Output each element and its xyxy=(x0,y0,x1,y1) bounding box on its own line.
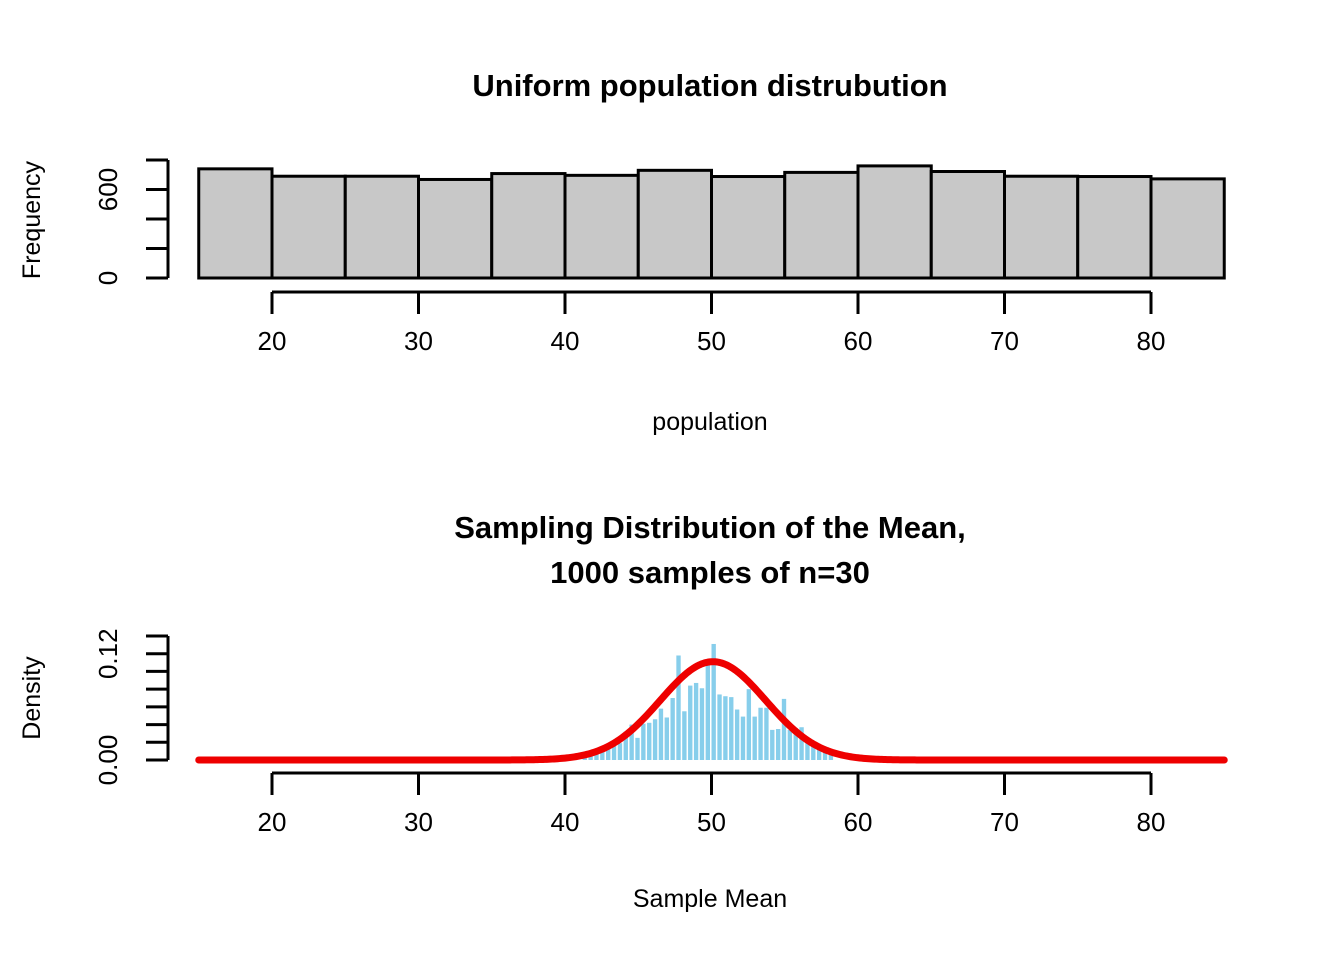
x-tick-label: 20 xyxy=(258,807,287,837)
x-tick-label: 30 xyxy=(404,326,433,356)
x-tick-label: 60 xyxy=(844,807,873,837)
histogram-bar xyxy=(931,172,1004,278)
histogram-bars-top xyxy=(199,166,1225,278)
histogram-bar xyxy=(635,738,639,760)
x-tick-label: 80 xyxy=(1137,807,1166,837)
histogram-bar xyxy=(688,686,692,760)
histogram-bar xyxy=(1005,176,1078,278)
y-tick-label: 0.00 xyxy=(93,735,123,786)
histogram-bar xyxy=(785,172,858,278)
y-tick-label: 600 xyxy=(93,168,123,211)
x-tick-label: 50 xyxy=(697,326,726,356)
x-axis-top: 20304050607080 xyxy=(258,292,1166,356)
histogram-bar xyxy=(1078,177,1151,278)
histogram-bar xyxy=(641,724,645,760)
y-axis-title-bottom: Density xyxy=(18,656,46,740)
x-tick-label: 50 xyxy=(697,807,726,837)
histogram-bar xyxy=(647,723,651,760)
chart-title-bottom-line2: 1000 samples of n=30 xyxy=(550,555,870,590)
histogram-bar xyxy=(764,708,768,760)
histogram-bar xyxy=(653,719,657,760)
histogram-bar xyxy=(638,170,711,278)
y-axis-top: 0600 xyxy=(93,160,168,285)
histogram-bar xyxy=(345,176,418,278)
uniform-population-chart: Uniform population distrubution populati… xyxy=(0,0,1344,470)
histogram-bar xyxy=(700,688,704,760)
x-tick-label: 70 xyxy=(990,326,1019,356)
x-tick-label: 60 xyxy=(844,326,873,356)
x-tick-label: 40 xyxy=(551,807,580,837)
histogram-bar xyxy=(694,683,698,760)
histogram-bar xyxy=(735,710,739,760)
histogram-bar xyxy=(670,698,674,760)
y-tick-label: 0.12 xyxy=(93,628,123,679)
histogram-bar xyxy=(706,662,710,760)
x-axis-title-bottom: Sample Mean xyxy=(633,885,787,913)
histogram-bar xyxy=(776,729,780,760)
histogram-bar xyxy=(723,696,727,760)
histogram-bar xyxy=(199,169,272,278)
histogram-bar xyxy=(788,730,792,760)
x-axis-bottom: 20304050607080 xyxy=(258,773,1166,837)
x-axis-title-top: population xyxy=(652,408,767,436)
histogram-bar xyxy=(729,697,733,760)
histogram-bar xyxy=(492,174,565,278)
chart-title-top: Uniform population distrubution xyxy=(472,68,947,103)
histogram-bar xyxy=(782,699,786,760)
histogram-bar xyxy=(272,176,345,278)
histogram-bar xyxy=(717,694,721,760)
uniform-population-panel: Uniform population distrubution populati… xyxy=(0,0,1344,470)
y-axis-title-top: Frequency xyxy=(18,160,46,279)
histogram-bar xyxy=(770,730,774,760)
x-tick-label: 40 xyxy=(551,326,580,356)
histogram-bar xyxy=(712,177,785,278)
histogram-bar xyxy=(618,743,622,760)
histogram-bar xyxy=(419,179,492,278)
x-tick-label: 70 xyxy=(990,807,1019,837)
histogram-bar xyxy=(758,708,762,760)
x-tick-label: 20 xyxy=(258,326,287,356)
sampling-distribution-panel: Sampling Distribution of the Mean, 1000 … xyxy=(0,470,1344,960)
histogram-bar xyxy=(747,689,751,760)
histogram-bar xyxy=(676,655,680,760)
histogram-bar xyxy=(565,175,638,278)
histogram-bar xyxy=(753,717,757,760)
histogram-bar xyxy=(858,166,931,278)
figure-canvas: Uniform population distrubution populati… xyxy=(0,0,1344,960)
histogram-bar xyxy=(659,709,663,760)
x-tick-label: 30 xyxy=(404,807,433,837)
histogram-bar xyxy=(1151,179,1224,278)
y-tick-label: 0 xyxy=(93,271,123,285)
histogram-bar xyxy=(665,717,669,760)
histogram-bar xyxy=(741,717,745,760)
histogram-bar xyxy=(682,711,686,760)
y-axis-bottom: 0.000.12 xyxy=(93,628,168,785)
sampling-distribution-chart: Sampling Distribution of the Mean, 1000 … xyxy=(0,470,1344,960)
chart-title-bottom-line1: Sampling Distribution of the Mean, xyxy=(454,510,966,545)
x-tick-label: 80 xyxy=(1137,326,1166,356)
